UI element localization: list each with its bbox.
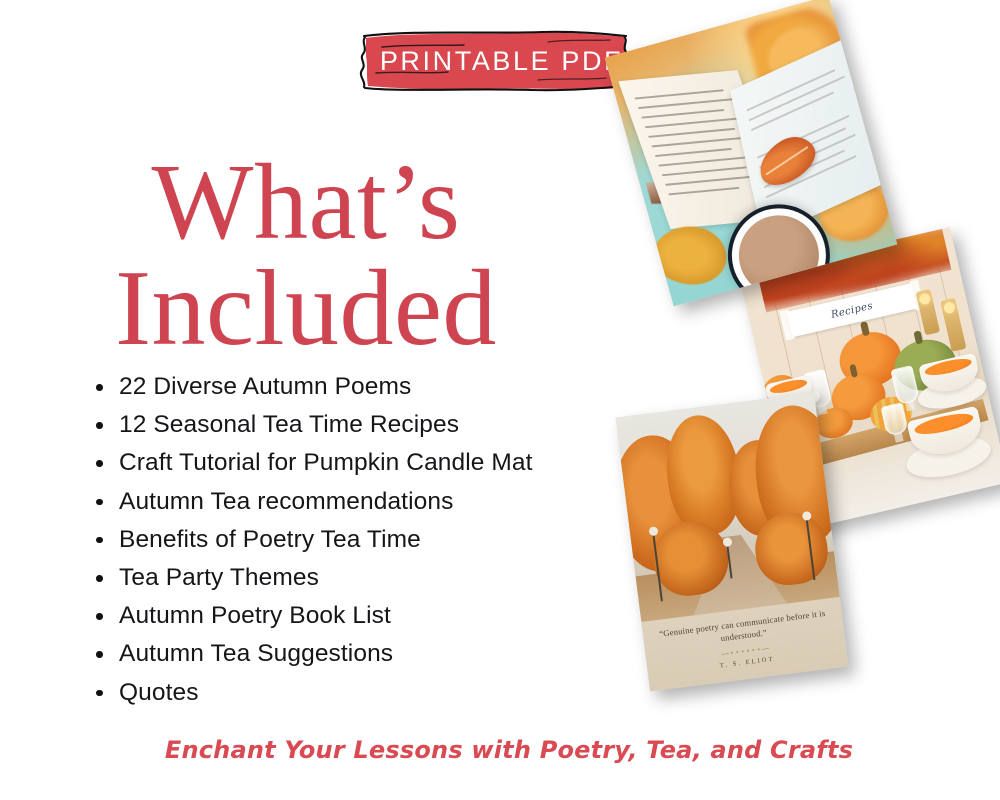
photo-trees-content: “Genuine poetry can communicate before i… — [615, 393, 848, 692]
photo-collage: Recipes — [0, 0, 1000, 800]
photo-autumn-tree-lined-path-with-quote: “Genuine poetry can communicate before i… — [615, 393, 848, 692]
recipes-banner-label: Recipes — [830, 300, 874, 320]
poster-canvas: PRINTABLE PDF What’s Included 22 Diverse… — [0, 0, 1000, 800]
